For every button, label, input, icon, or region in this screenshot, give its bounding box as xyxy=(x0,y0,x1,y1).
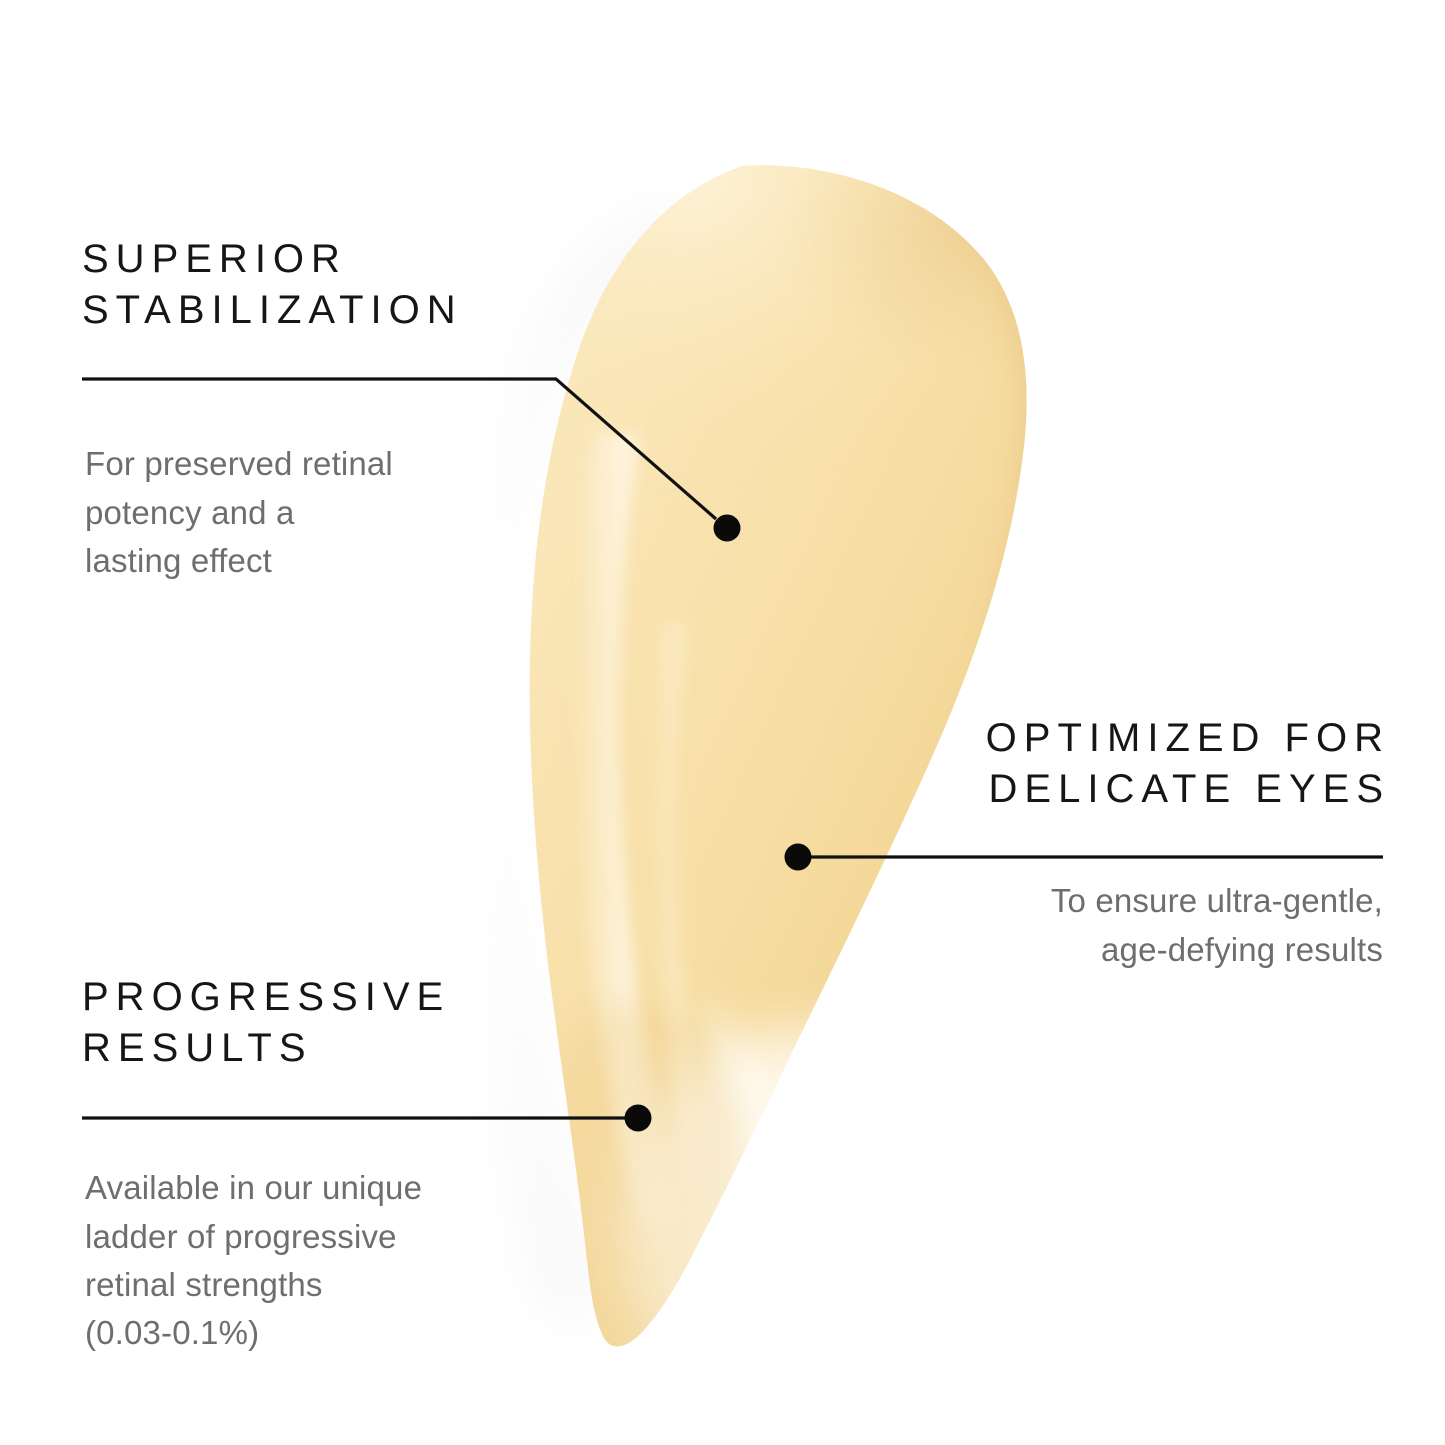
callout-progressive-results: PROGRESSIVE RESULTS Available in our uni… xyxy=(82,972,552,1357)
callout-body-optimized-delicate-eyes: To ensure ultra-gentle, age-defying resu… xyxy=(913,877,1383,973)
callout-heading-progressive-results: PROGRESSIVE RESULTS xyxy=(82,972,552,1074)
callout-body-progressive-results: Available in our unique ladder of progre… xyxy=(85,1164,552,1357)
callout-superior-stabilization: SUPERIOR STABILIZATION For preserved ret… xyxy=(82,234,512,585)
callout-heading-optimized-delicate-eyes: OPTIMIZED FOR DELICATE EYES xyxy=(913,713,1390,815)
callout-heading-superior-stabilization: SUPERIOR STABILIZATION xyxy=(82,234,512,336)
callout-body-superior-stabilization: For preserved retinal potency and a last… xyxy=(85,440,512,585)
callout-optimized-delicate-eyes: OPTIMIZED FOR DELICATE EYES To ensure ul… xyxy=(913,713,1383,974)
infographic-canvas: SUPERIOR STABILIZATION For preserved ret… xyxy=(0,0,1445,1445)
